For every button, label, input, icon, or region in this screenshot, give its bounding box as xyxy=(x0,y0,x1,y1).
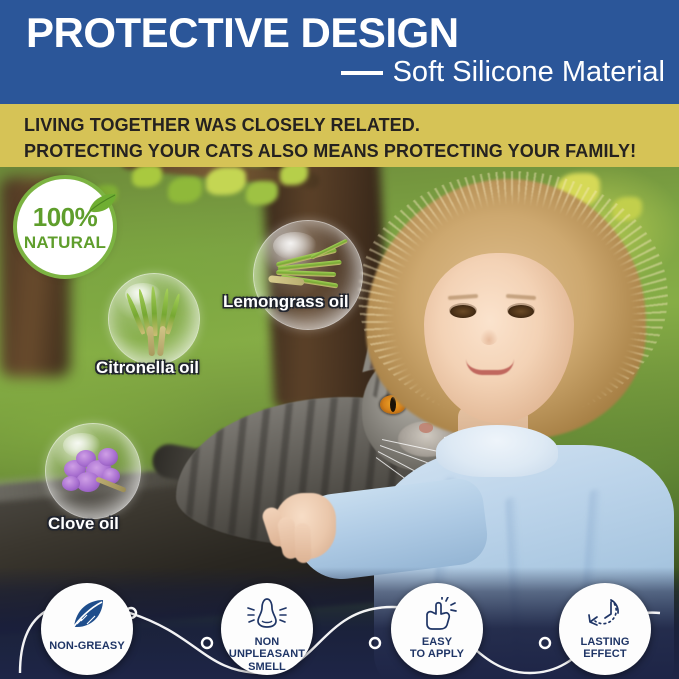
ingredient-label-citronella: Citronella oil xyxy=(96,359,199,376)
girl-turtleneck-collar xyxy=(436,425,558,477)
ingredient-label-lemongrass: Lemongrass oil xyxy=(223,293,349,310)
ingredient-bubble-citronella xyxy=(108,273,200,365)
snap-finger-icon xyxy=(417,597,457,631)
ingredient-bubble-clove xyxy=(45,423,141,519)
leaf-icon xyxy=(67,597,107,631)
leaf-icon xyxy=(87,193,117,215)
grass-stalk xyxy=(157,326,166,356)
feature-line-2: UNPLEASANT xyxy=(229,648,305,660)
feature-badge-lasting-effect[interactable]: LASTING EFFECT xyxy=(559,583,651,675)
header-subtitle: Soft Silicone Material xyxy=(393,58,665,87)
feature-label: NON UNPLEASANT SMELL xyxy=(229,636,305,673)
girl-eye-right xyxy=(508,305,534,318)
feature-line-1: NON xyxy=(255,636,280,648)
girl-nose xyxy=(480,329,498,345)
leaf-blob xyxy=(168,177,202,203)
clove-flower-petal xyxy=(62,476,80,491)
tagline-band: LIVING TOGETHER WAS CLOSELY RELATED. PRO… xyxy=(0,104,679,167)
product-infographic-poster: PROTECTIVE DESIGN Soft Silicone Material… xyxy=(0,0,679,679)
feature-label: LASTING EFFECT xyxy=(581,636,630,661)
feature-line-2: EFFECT xyxy=(583,648,626,660)
feature-bar: NON-GREASY NON UNPLEASANT SMELL xyxy=(0,577,679,679)
feature-line-1: NON-GREASY xyxy=(49,640,125,652)
feature-line-2: TO APPLY xyxy=(410,648,464,660)
feature-badge-non-unpleasant-smell[interactable]: NON UNPLEASANT SMELL xyxy=(221,583,313,675)
leaf-blob xyxy=(206,167,246,195)
ingredient-bubble-lemongrass xyxy=(253,220,363,330)
clove-flower-petal xyxy=(98,448,118,466)
leaf-blob xyxy=(246,181,278,205)
feature-line-1: LASTING xyxy=(581,636,630,648)
clock-icon xyxy=(585,597,625,631)
girl-finger xyxy=(294,523,311,564)
feature-badge-easy-to-apply[interactable]: EASY TO APPLY xyxy=(391,583,483,675)
nose-icon xyxy=(247,597,287,631)
feature-line-3: SMELL xyxy=(248,661,286,673)
page-title: PROTECTIVE DESIGN xyxy=(26,12,459,54)
feature-badge-non-greasy[interactable]: NON-GREASY xyxy=(41,583,133,675)
hero-photo: Lemongrass oil Citronella oil Clove oil xyxy=(0,167,679,679)
em-dash-rule xyxy=(341,71,383,75)
feature-label: EASY TO APPLY xyxy=(410,636,464,661)
girl-eye-left xyxy=(450,305,476,318)
tagline-line-2: PROTECTING YOUR CATS ALSO MEANS PROTECTI… xyxy=(24,142,636,160)
tagline-line-1: LIVING TOGETHER WAS CLOSELY RELATED. xyxy=(24,116,420,134)
header-subtitle-group: Soft Silicone Material xyxy=(341,58,665,87)
feature-label: NON-GREASY xyxy=(49,640,125,652)
ingredient-label-clove: Clove oil xyxy=(48,515,119,532)
natural-badge: 100% NATURAL xyxy=(17,179,113,275)
natural-label: NATURAL xyxy=(24,234,106,251)
feature-line-1: EASY xyxy=(422,636,452,648)
header-band: PROTECTIVE DESIGN Soft Silicone Material xyxy=(0,0,679,104)
